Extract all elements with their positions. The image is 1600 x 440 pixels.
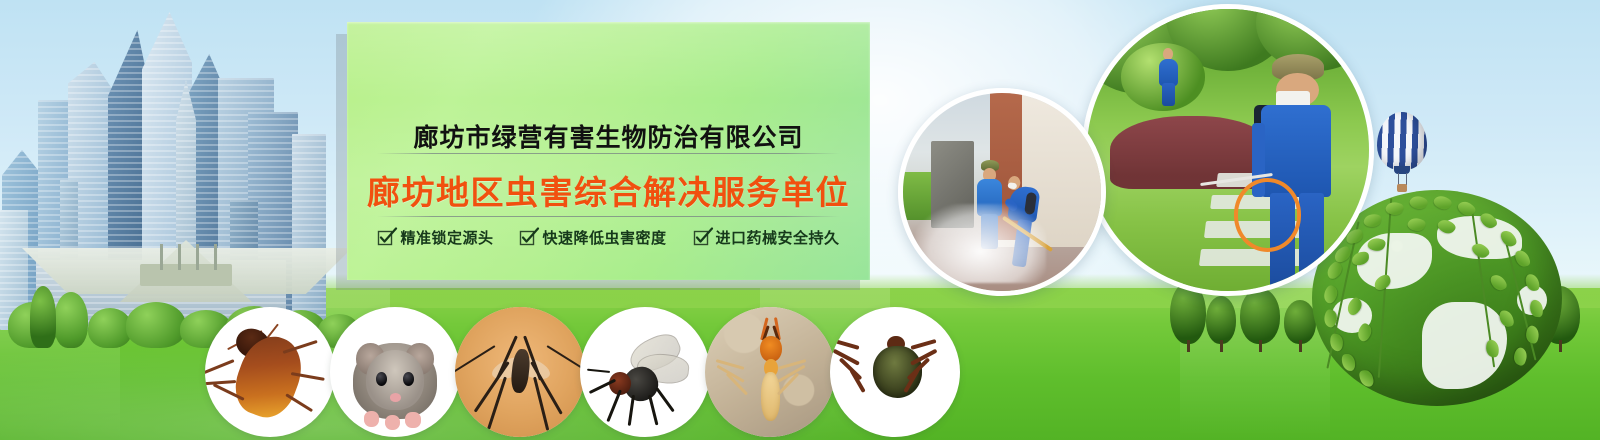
- pest-rat: [330, 307, 460, 437]
- headline: 廊坊地区虫害综合解决服务单位: [347, 166, 870, 214]
- promotional-banner: 廊坊市绿营有害生物防治有限公司 廊坊地区虫害综合解决服务单位 精准锁定源头: [0, 0, 1600, 440]
- checkbox-checked-icon: [693, 229, 710, 246]
- checkbox-checked-icon: [377, 229, 394, 246]
- pest-termite: [705, 307, 835, 437]
- checkbox-checked-icon: [519, 229, 536, 246]
- pest-cockroach: [205, 307, 335, 437]
- photo-garden-spraying: [1082, 4, 1374, 296]
- feature-item-2: 快速降低虫害密度: [519, 227, 666, 248]
- feature-list: 精准锁定源头 快速降低虫害密度 进口药械安全持久: [347, 227, 870, 248]
- tree-right-2: [1206, 296, 1236, 344]
- divider-bottom: [377, 216, 840, 217]
- worker-background: [1155, 48, 1183, 104]
- company-name: 廊坊市绿营有害生物防治有限公司: [347, 118, 870, 154]
- feature-item-1: 精准锁定源头: [377, 227, 493, 248]
- feature-item-3: 进口药械安全持久: [693, 227, 840, 248]
- pest-mosquito: [455, 307, 585, 437]
- hot-air-balloon-icon: [1377, 112, 1427, 192]
- tree-right-3: [1240, 288, 1280, 344]
- pest-fly: [580, 307, 710, 437]
- divider-top: [377, 153, 840, 154]
- pest-tick: [830, 307, 960, 437]
- text-panel: 廊坊市绿营有害生物防治有限公司 廊坊地区虫害综合解决服务单位 精准锁定源头: [347, 22, 870, 280]
- feature-label-3: 进口药械安全持久: [716, 227, 840, 248]
- photo-fogging-team: [898, 88, 1106, 296]
- feature-label-2: 快速降低虫害密度: [542, 227, 666, 248]
- park-planter: [140, 264, 232, 286]
- feature-label-1: 精准锁定源头: [400, 227, 493, 248]
